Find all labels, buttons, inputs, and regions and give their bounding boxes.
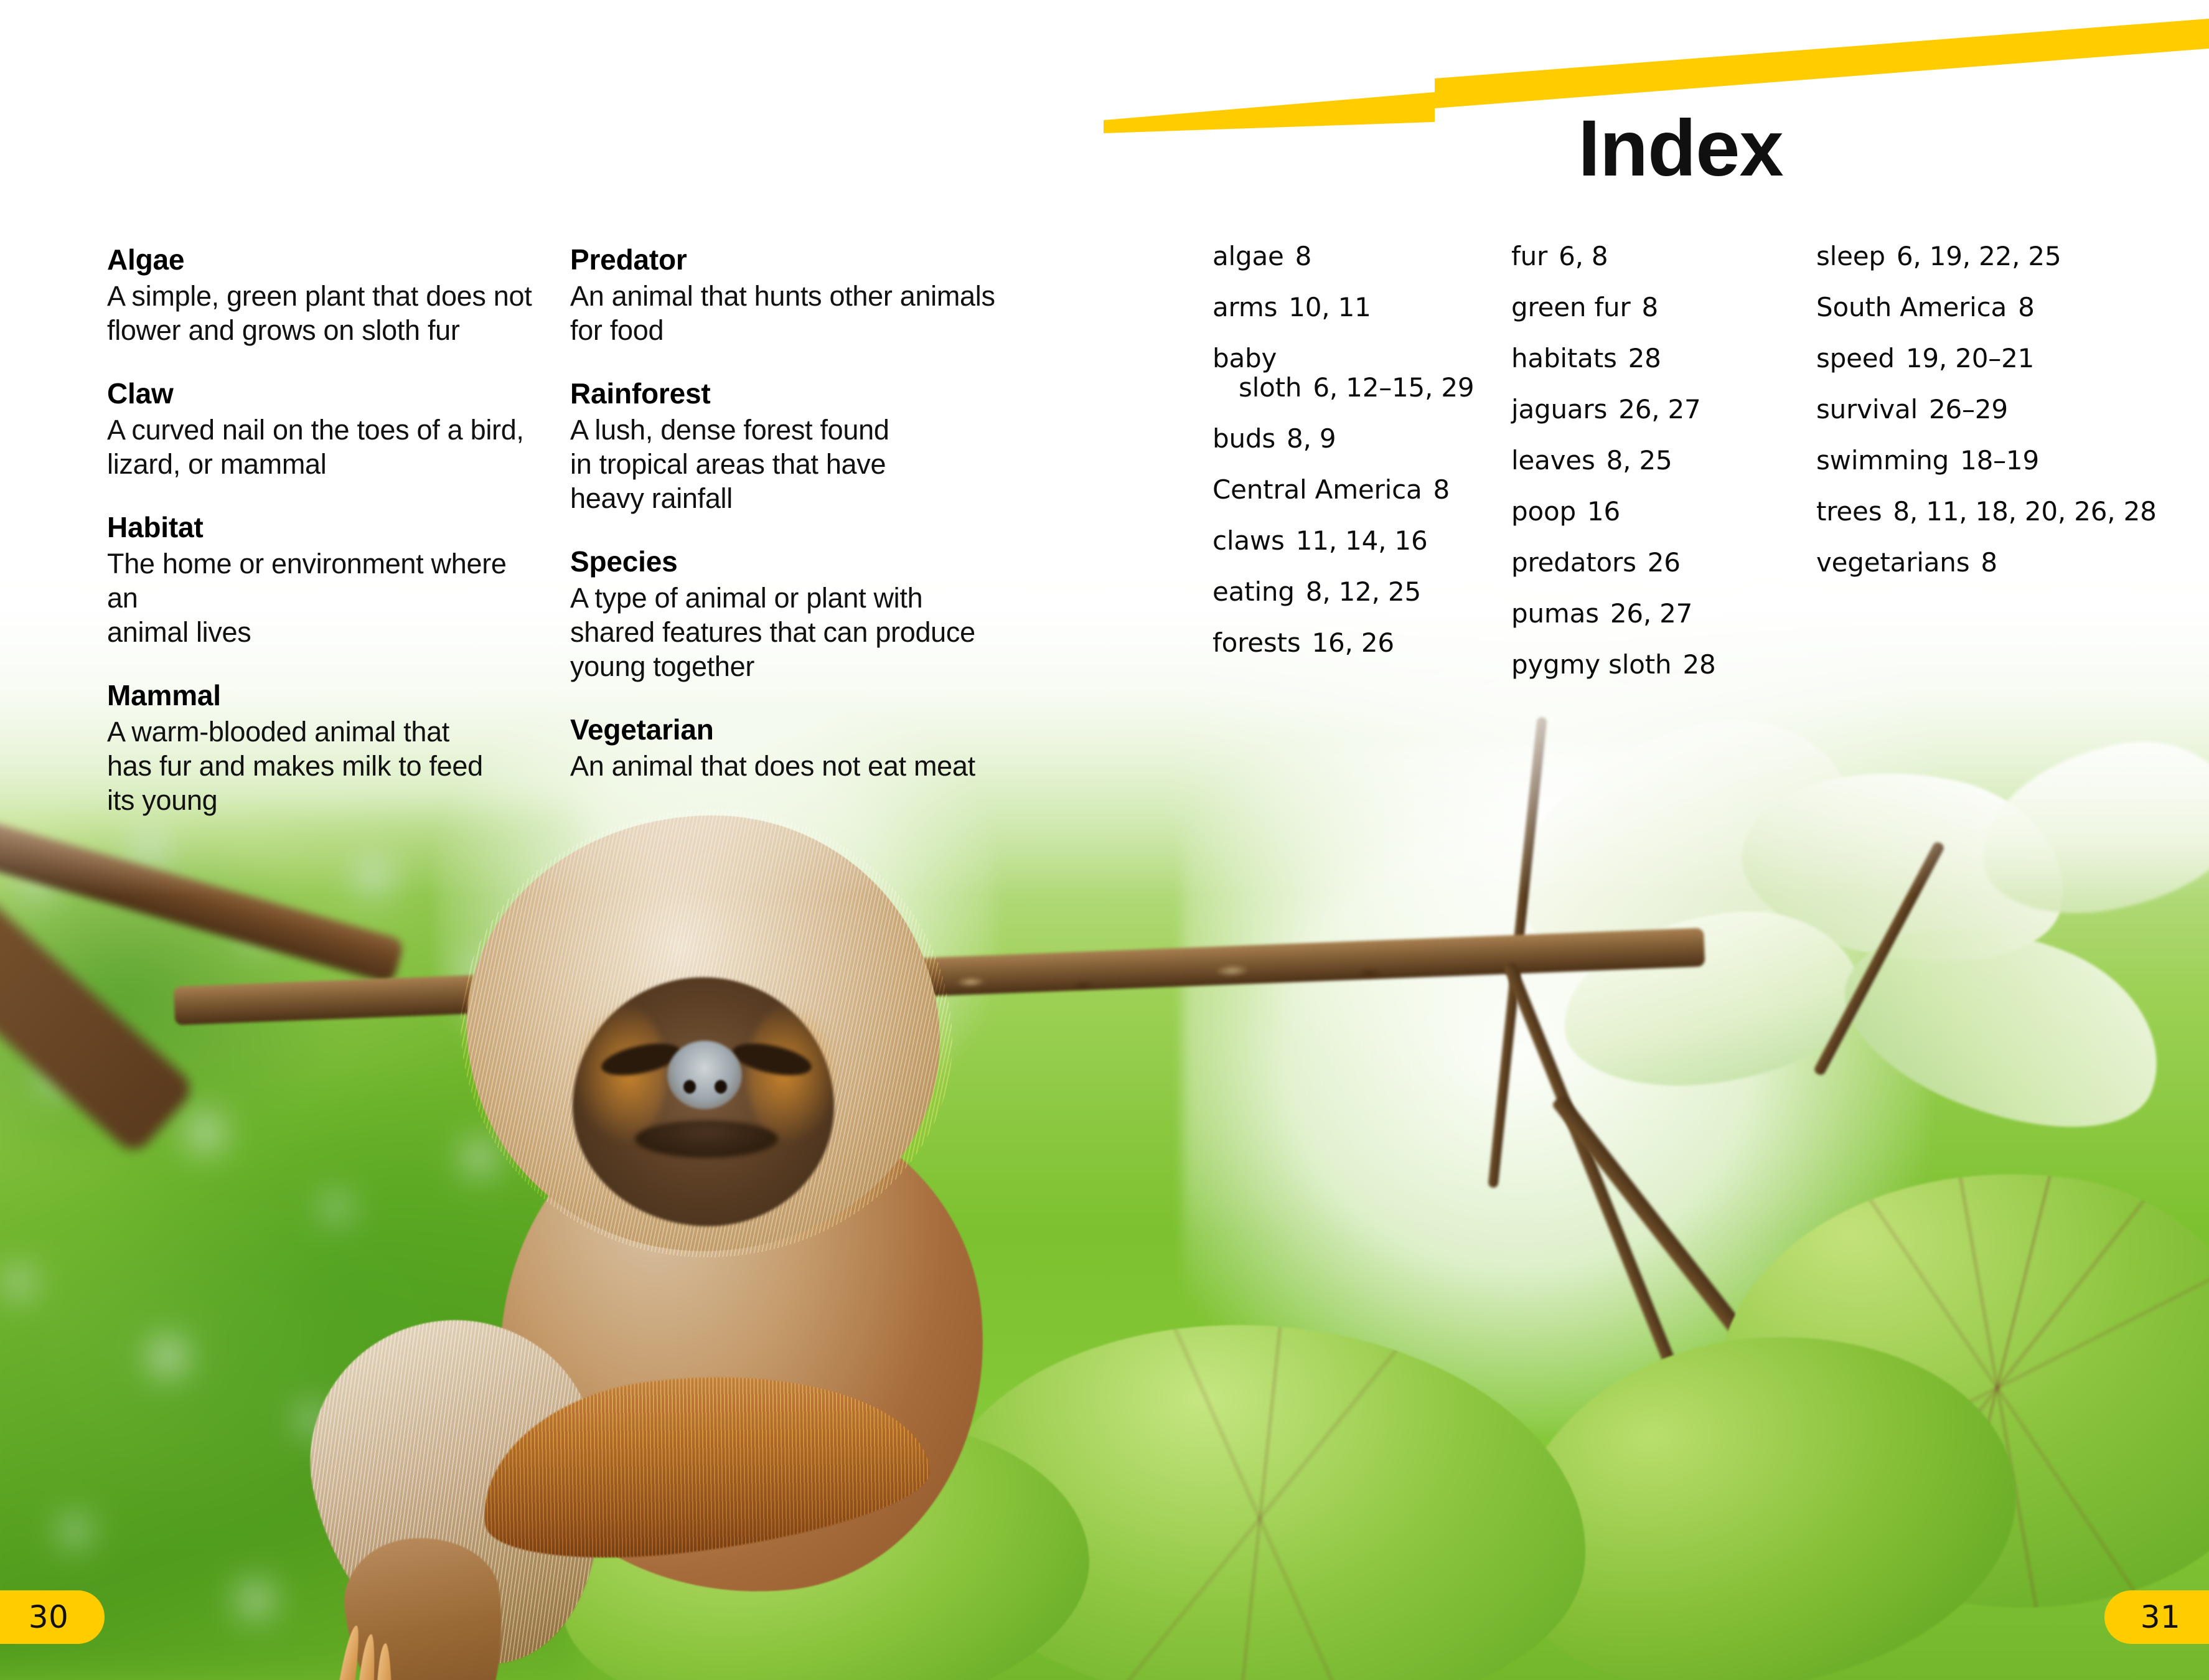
sloth xyxy=(386,797,1120,1680)
index-column-2: fur6, 8 green fur8 habitats28 jaguars26,… xyxy=(1511,242,1785,701)
index-term: fur xyxy=(1511,241,1547,271)
index-pages: 10, 11 xyxy=(1288,292,1371,322)
page-number-left: 30 xyxy=(0,1590,105,1644)
index-term: trees xyxy=(1816,496,1882,527)
index-term: jaguars xyxy=(1511,394,1607,425)
index-pages: 8 xyxy=(1642,292,1659,322)
index-entry: leaves8, 25 xyxy=(1511,446,1785,475)
index-pages: 18–19 xyxy=(1960,445,2039,476)
index-term: algae xyxy=(1212,241,1284,271)
index-entry: swimming18–19 xyxy=(1816,446,2109,475)
index-pages: 8 xyxy=(2018,292,2035,322)
index-entry: pumas26, 27 xyxy=(1511,599,1785,628)
index-term: poop xyxy=(1511,496,1576,527)
index-pages: 8 xyxy=(1433,474,1450,505)
book-spread: Index Algae A simple, green plant that d… xyxy=(0,0,2209,1680)
index-entry: forests16, 26 xyxy=(1212,628,1486,657)
index-term: survival xyxy=(1816,394,1918,425)
index-entry: algae8 xyxy=(1212,242,1486,271)
index-entry: Central America8 xyxy=(1212,475,1486,504)
index-pages: 19, 20–21 xyxy=(1906,343,2034,373)
index-pages: 26–29 xyxy=(1929,394,2008,425)
sloth-mouth xyxy=(635,1120,778,1158)
index-entry: fur6, 8 xyxy=(1511,242,1785,271)
index-entry: green fur8 xyxy=(1511,293,1785,322)
index-entry: eating8, 12, 25 xyxy=(1212,577,1486,606)
index-entry: jaguars26, 27 xyxy=(1511,395,1785,424)
index-pages: 28 xyxy=(1628,343,1661,373)
index-entry: South America8 xyxy=(1816,293,2109,322)
index-entry: poop16 xyxy=(1511,497,1785,526)
index-term: forests xyxy=(1212,627,1301,658)
sloth-nostril-right xyxy=(715,1080,727,1094)
index-column-1: algae8 arms10, 11 baby sloth6, 12–15, 29… xyxy=(1212,242,1486,679)
index-entry: claws11, 14, 16 xyxy=(1212,526,1486,555)
index-term: leaves xyxy=(1511,445,1595,476)
index-section: algae8 arms10, 11 baby sloth6, 12–15, 29… xyxy=(0,0,2209,747)
index-term: habitats xyxy=(1511,343,1617,373)
index-term: speed xyxy=(1816,343,1895,373)
index-term: Central America xyxy=(1212,474,1422,505)
index-pages: 6, 12–15, 29 xyxy=(1313,372,1474,403)
index-term: buds xyxy=(1212,423,1275,454)
index-pages: 6, 19, 22, 25 xyxy=(1897,241,2061,271)
index-term: green fur xyxy=(1511,292,1631,322)
index-entry: predators26 xyxy=(1511,548,1785,577)
index-term: South America xyxy=(1816,292,2007,322)
index-term: arms xyxy=(1212,292,1277,322)
index-pages: 11, 14, 16 xyxy=(1296,525,1428,556)
index-term: pumas xyxy=(1511,598,1599,629)
index-term: claws xyxy=(1212,525,1285,556)
index-pages: 8, 25 xyxy=(1606,445,1672,476)
index-pages: 16 xyxy=(1587,496,1620,527)
index-entry: sleep6, 19, 22, 25 xyxy=(1816,242,2109,271)
sloth-muzzle xyxy=(667,1041,742,1109)
index-pages: 26, 27 xyxy=(1618,394,1700,425)
index-term: pygmy sloth xyxy=(1511,649,1671,680)
glossary-definition: An animal that does not eat meat xyxy=(570,749,1006,784)
index-entry: arms10, 11 xyxy=(1212,293,1486,322)
index-pages: 8, 11, 18, 20, 26, 28 xyxy=(1893,496,2156,527)
index-entry: habitats28 xyxy=(1511,344,1785,373)
index-pages: 6, 8 xyxy=(1559,241,1608,271)
index-pages: 26, 27 xyxy=(1610,598,1692,629)
index-pages: 8, 12, 25 xyxy=(1306,576,1421,607)
index-pages: 26 xyxy=(1648,547,1681,578)
index-term: baby sloth xyxy=(1212,343,1301,403)
index-entry: vegetarians8 xyxy=(1816,548,2109,577)
index-entry: pygmy sloth28 xyxy=(1511,650,1785,679)
index-column-3: sleep6, 19, 22, 25 South America8 speed1… xyxy=(1816,242,2109,599)
index-pages: 28 xyxy=(1682,649,1715,680)
index-term: sleep xyxy=(1816,241,1885,271)
index-term: vegetarians xyxy=(1816,547,1969,578)
index-pages: 16, 26 xyxy=(1312,627,1394,658)
index-entry: speed19, 20–21 xyxy=(1816,344,2109,373)
index-term: predators xyxy=(1511,547,1636,578)
index-entry: buds8, 9 xyxy=(1212,424,1486,453)
index-pages: 8, 9 xyxy=(1287,423,1336,454)
index-pages: 8 xyxy=(1981,547,1997,578)
index-entry: survival26–29 xyxy=(1816,395,2109,424)
index-term: eating xyxy=(1212,576,1295,607)
sloth-nostril-left xyxy=(683,1080,696,1094)
index-entry: baby sloth6, 12–15, 29 xyxy=(1212,344,1486,402)
index-entry: trees8, 11, 18, 20, 26, 28 xyxy=(1816,497,2109,526)
page-number-right: 31 xyxy=(2104,1590,2209,1644)
index-pages: 8 xyxy=(1295,241,1312,271)
index-term: swimming xyxy=(1816,445,1949,476)
